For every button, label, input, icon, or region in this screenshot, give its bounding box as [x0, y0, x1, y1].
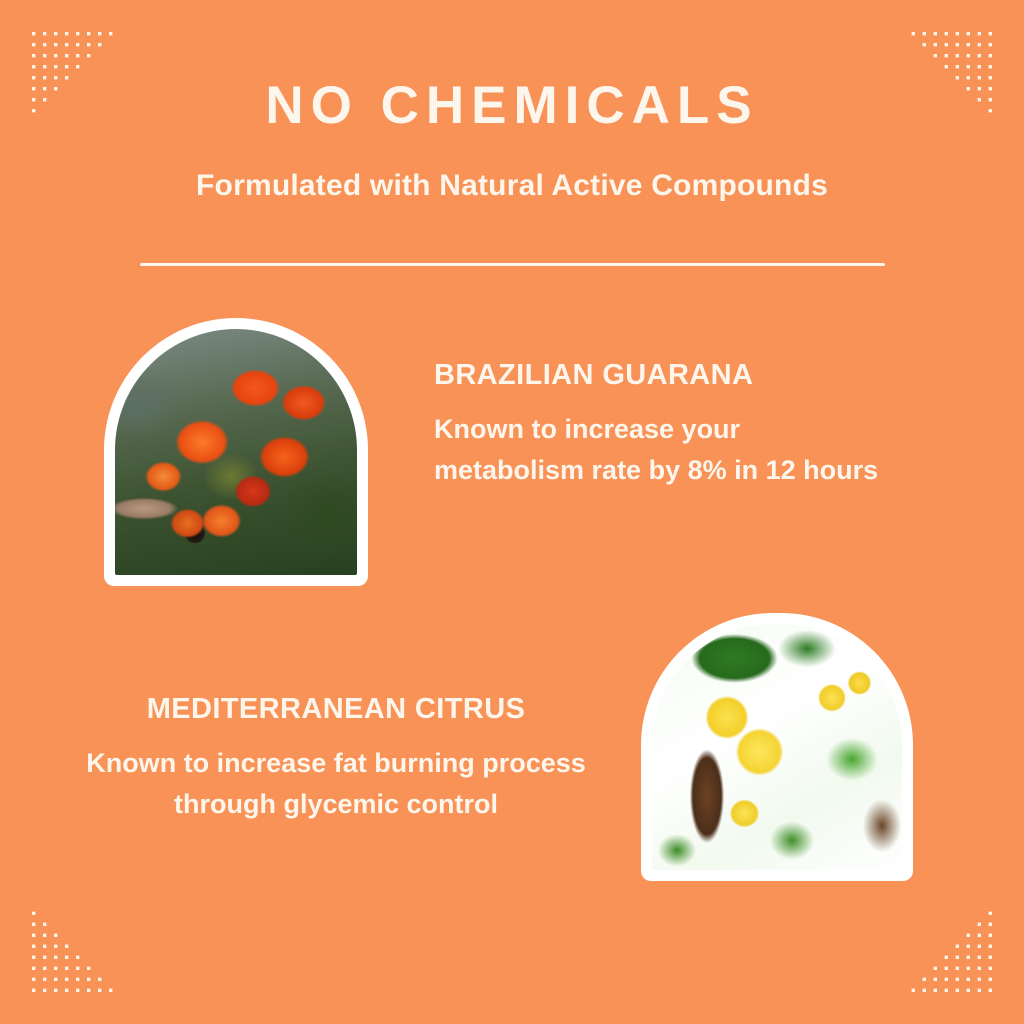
ingredient-image-guarana	[104, 318, 368, 586]
ingredient-name-guarana: BRAZILIAN GUARANA	[434, 358, 896, 393]
guarana-fruit-photo	[115, 329, 357, 575]
citrus-tree-photo	[652, 624, 902, 870]
ingredient-description-citrus: Known to increase fat burning process th…	[52, 727, 620, 825]
ingredient-block-guarana: BRAZILIAN GUARANA Known to increase your…	[434, 358, 896, 491]
header: NO CHEMICALS Formulated with Natural Act…	[0, 78, 1024, 204]
corner-dots-bottom-left	[30, 898, 126, 994]
ingredient-poster: NO CHEMICALS Formulated with Natural Act…	[0, 0, 1024, 1024]
corner-dots-bottom-right	[898, 898, 994, 994]
header-divider	[140, 263, 885, 266]
ingredient-name-citrus: MEDITERRANEAN CITRUS	[52, 692, 620, 727]
ingredient-description-guarana: Known to increase your metabolism rate b…	[434, 393, 896, 491]
page-subtitle: Formulated with Natural Active Compounds	[0, 134, 1024, 204]
ingredient-block-citrus: MEDITERRANEAN CITRUS Known to increase f…	[52, 692, 620, 825]
page-title: NO CHEMICALS	[0, 78, 1024, 134]
ingredient-image-citrus	[641, 613, 913, 881]
